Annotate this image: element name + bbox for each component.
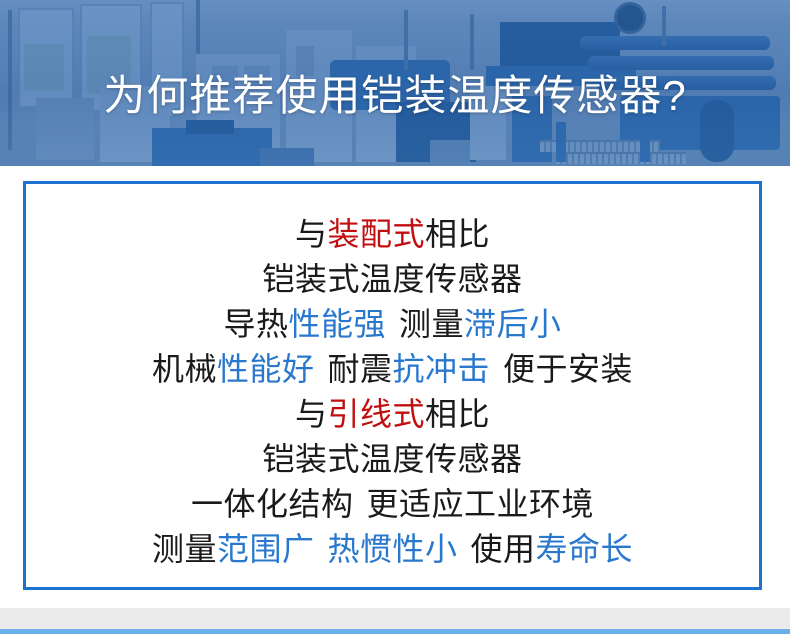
feature-text-segment: 与 bbox=[295, 216, 328, 252]
feature-text-segment: 引线式 bbox=[327, 396, 425, 432]
feature-line: 铠装式温度传感器 bbox=[26, 437, 759, 482]
feature-text-segment: 使用 bbox=[471, 531, 536, 567]
feature-text-segment: 铠装式温度传感器 bbox=[262, 261, 522, 297]
feature-text-segment: 装配式 bbox=[327, 216, 425, 252]
feature-text-segment: 便于安装 bbox=[503, 351, 633, 387]
page-title: 为何推荐使用铠装温度传感器? bbox=[0, 71, 790, 121]
feature-text-segment: 机械 bbox=[152, 351, 217, 387]
content-area: 与装配式相比铠装式温度传感器导热性能强测量滞后小机械性能好耐震抗冲击便于安装与引… bbox=[0, 166, 790, 608]
feature-line: 铠装式温度传感器 bbox=[26, 257, 759, 302]
feature-text-segment: 导热 bbox=[223, 306, 288, 342]
feature-line: 与装配式相比 bbox=[26, 212, 759, 257]
feature-line: 导热性能强测量滞后小 bbox=[26, 302, 759, 347]
feature-text-block: 与装配式相比铠装式温度传感器导热性能强测量滞后小机械性能好耐震抗冲击便于安装与引… bbox=[26, 212, 759, 572]
footer-gray-strip bbox=[0, 608, 790, 629]
feature-text-segment: 测量 bbox=[152, 531, 217, 567]
feature-text-segment: 一体化结构 bbox=[191, 486, 354, 522]
feature-line: 机械性能好耐震抗冲击便于安装 bbox=[26, 347, 759, 392]
feature-text-segment: 耐震 bbox=[327, 351, 392, 387]
feature-text-segment: 相比 bbox=[425, 396, 490, 432]
feature-text-segment: 性能强 bbox=[288, 306, 386, 342]
feature-text-segment: 滞后小 bbox=[464, 306, 562, 342]
feature-text-segment: 相比 bbox=[425, 216, 490, 252]
feature-text-segment: 热惯性小 bbox=[327, 531, 457, 567]
footer-blue-strip bbox=[0, 629, 790, 634]
hero-banner: 为何推荐使用铠装温度传感器? bbox=[0, 0, 790, 166]
feature-line: 与引线式相比 bbox=[26, 392, 759, 437]
feature-text-segment: 性能好 bbox=[217, 351, 315, 387]
feature-text-segment: 更适应工业环境 bbox=[367, 486, 595, 522]
feature-text-segment: 抗冲击 bbox=[393, 351, 491, 387]
feature-text-segment: 铠装式温度传感器 bbox=[262, 441, 522, 477]
feature-line: 测量范围广热惯性小使用寿命长 bbox=[26, 527, 759, 572]
feature-text-segment: 测量 bbox=[399, 306, 464, 342]
product-detail-page: 为何推荐使用铠装温度传感器? 与装配式相比铠装式温度传感器导热性能强测量滞后小机… bbox=[0, 0, 790, 634]
bordered-content-panel: 与装配式相比铠装式温度传感器导热性能强测量滞后小机械性能好耐震抗冲击便于安装与引… bbox=[23, 181, 762, 590]
feature-text-segment: 与 bbox=[295, 396, 328, 432]
feature-line: 一体化结构更适应工业环境 bbox=[26, 482, 759, 527]
feature-text-segment: 范围广 bbox=[217, 531, 315, 567]
feature-text-segment: 寿命长 bbox=[536, 531, 634, 567]
